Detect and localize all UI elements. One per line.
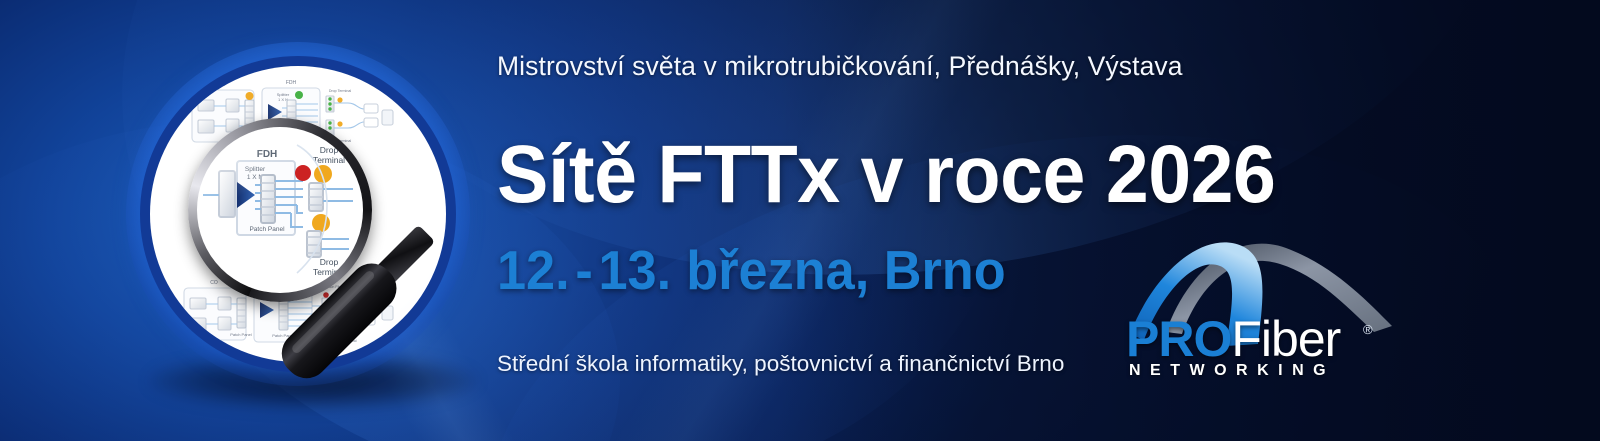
magnified-fdh-diagram: FDH Splitter 1 X N Patch Panel (197, 127, 363, 293)
banner-headline: Sítě FTTx v roce 2026 (497, 134, 1275, 216)
svg-text:Drop: Drop (320, 145, 339, 155)
logo-wordmark: PROFiber (1126, 314, 1340, 364)
event-banner: CO Patch Panel FDH Splitter 1 X N (0, 0, 1600, 441)
logo-fiber-text: Fiber (1231, 311, 1340, 367)
svg-text:FDH: FDH (286, 80, 297, 86)
svg-text:Drop Terminal: Drop Terminal (329, 89, 352, 93)
banner-subtitle: Mistrovství světa v mikrotrubičkování, P… (497, 51, 1183, 82)
logo-tagline: NETWORKING (1129, 362, 1335, 380)
svg-text:Patch Panel: Patch Panel (230, 332, 252, 337)
svg-text:CO: CO (218, 82, 226, 88)
svg-text:Drop Terminal: Drop Terminal (335, 339, 356, 343)
svg-text:Patch Panel: Patch Panel (249, 226, 285, 233)
profiber-logo[interactable]: PROFiber ® NETWORKING (1108, 222, 1408, 392)
date-city: března, Brno (671, 239, 1006, 301)
svg-text:Terminal: Terminal (313, 155, 345, 165)
banner-venue: Střední škola informatiky, poštovnictví … (497, 351, 1064, 377)
svg-text:Terminal: Terminal (313, 267, 345, 277)
lens-magnified-view: FDH Splitter 1 X N Patch Panel (197, 127, 363, 293)
magnifier-illustration: CO Patch Panel FDH Splitter 1 X N (118, 22, 490, 422)
svg-text:Drop: Drop (320, 257, 339, 267)
date-separator: - (570, 239, 599, 301)
date-from: 12. (497, 239, 570, 301)
registered-trademark-icon: ® (1363, 322, 1373, 337)
banner-dateline: 12.-13.března, Brno (497, 243, 1006, 298)
svg-text:Splitter: Splitter (245, 166, 266, 173)
svg-text:FDH: FDH (257, 149, 278, 160)
logo-pro-text: PRO (1126, 311, 1231, 367)
svg-text:Patch Panel: Patch Panel (272, 333, 294, 338)
magnifier-lens: FDH Splitter 1 X N Patch Panel (188, 118, 372, 302)
date-to: 13. (598, 239, 671, 301)
